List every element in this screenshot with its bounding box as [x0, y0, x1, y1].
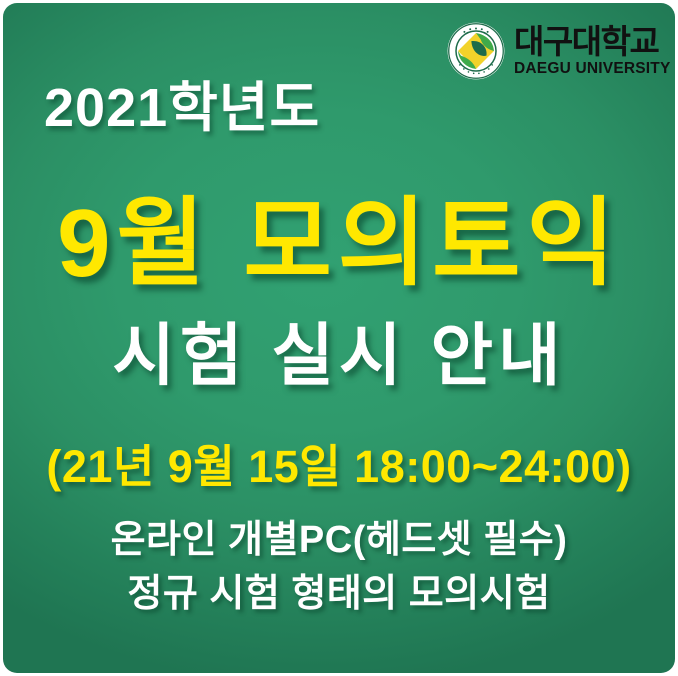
poster-subheadline: 시험 실시 안내	[0, 300, 678, 399]
university-name-korean: 대구대학교	[514, 25, 671, 58]
university-name-english: DAEGU UNIVERSITY	[514, 61, 671, 77]
exam-datetime: (21년 9월 15일 18:00~24:00)	[0, 430, 678, 495]
daegu-university-seal-icon	[447, 22, 505, 80]
university-wordmark: 대구대학교 DAEGU UNIVERSITY	[514, 25, 671, 77]
poster: 대구대학교 DAEGU UNIVERSITY 2021학년도 9월 모의토익 시…	[0, 0, 678, 676]
exam-note-type: 정규 시험 형태의 모의시험	[0, 562, 678, 617]
poster-headline: 9월 모의토익	[0, 165, 678, 304]
exam-note-format: 온라인 개별PC(헤드셋 필수)	[0, 508, 678, 563]
academic-year-line: 2021학년도	[44, 63, 320, 142]
university-logo-lockup: 대구대학교 DAEGU UNIVERSITY	[447, 22, 671, 80]
